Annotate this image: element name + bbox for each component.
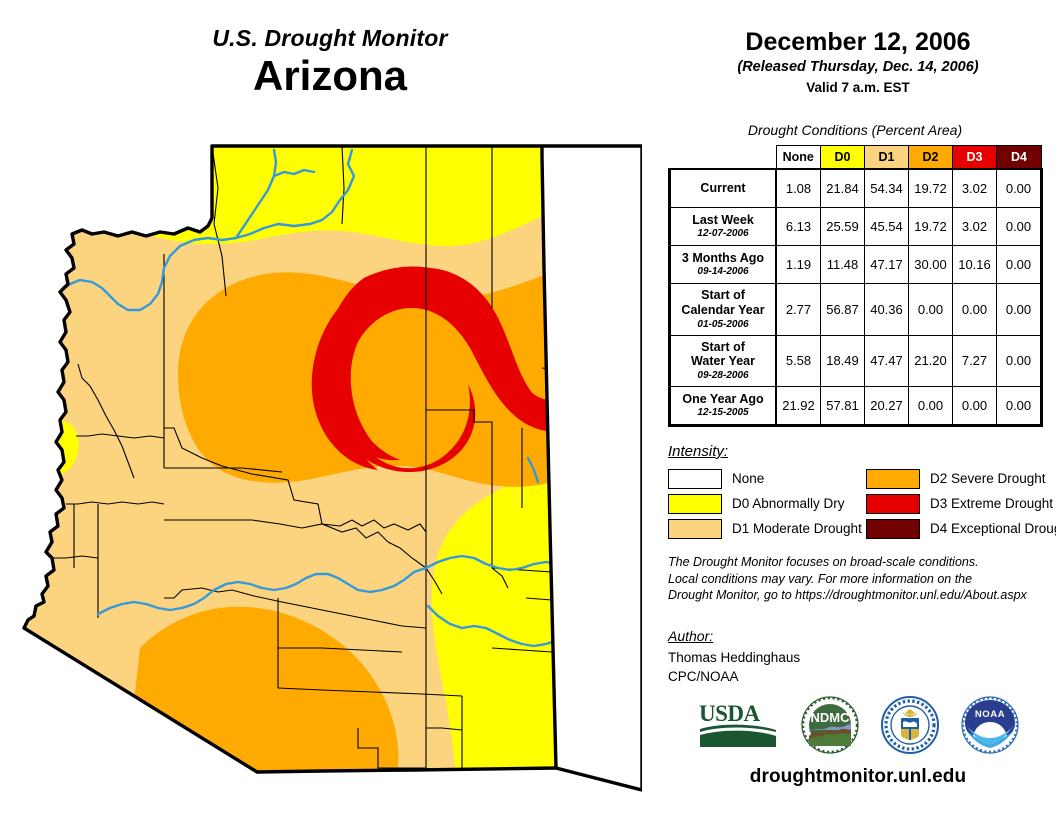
author-name: Thomas Heddinghaus [668, 648, 800, 667]
table-row: 3 Months Ago09-14-20061.1911.4847.1730.0… [670, 246, 1042, 284]
table-cell: 0.00 [997, 387, 1042, 426]
table-cell: 21.92 [776, 387, 821, 426]
state-outline-east [542, 146, 642, 790]
notes-line-1: The Drought Monitor focuses on broad-sca… [668, 554, 1054, 571]
table-cell: 3.02 [953, 208, 997, 246]
table-cell: 2.77 [776, 284, 821, 336]
table-cell: 40.36 [865, 284, 909, 336]
legend-swatch [866, 494, 920, 514]
legend-item: D2 Severe Drought [866, 466, 1056, 491]
table-cell: 3.02 [953, 169, 997, 208]
table-row: One Year Ago12-15-200521.9257.8120.270.0… [670, 387, 1042, 426]
intensity-heading: Intensity: [668, 443, 728, 460]
table-row: Current1.0821.8454.3419.723.020.00 [670, 169, 1042, 208]
row-label: One Year Ago12-15-2005 [670, 387, 777, 426]
svg-text:NDMC: NDMC [811, 710, 851, 725]
table-cell: 0.00 [997, 284, 1042, 336]
region-d0-west-sliver2 [30, 485, 51, 507]
row-label-text: Last Week [673, 213, 773, 228]
table-cell: 0.00 [997, 335, 1042, 387]
author-heading: Author: [668, 628, 713, 644]
row-label: 3 Months Ago09-14-2006 [670, 246, 777, 284]
table-caption: Drought Conditions (Percent Area) [660, 122, 1050, 138]
table-cell: 21.20 [909, 335, 953, 387]
right-panel: December 12, 2006 (Released Thursday, De… [660, 0, 1056, 816]
svg-text:NOAA: NOAA [975, 709, 1005, 720]
column-header-d3: D3 [953, 146, 997, 170]
table-header-row: NoneD0D1D2D3D4 [670, 146, 1042, 170]
legend-swatch [866, 469, 920, 489]
legend-label: D0 Abnormally Dry [732, 496, 845, 511]
author-block: Thomas Heddinghaus CPC/NOAA [668, 648, 800, 686]
row-label: Start ofWater Year09-28-2006 [670, 335, 777, 387]
released-line: (Released Thursday, Dec. 14, 2006) [660, 59, 1056, 76]
notes-line-2: Local conditions may vary. For more info… [668, 571, 1054, 588]
table-cell: 6.13 [776, 208, 821, 246]
legend-swatch [668, 519, 722, 539]
legend-label: D4 Exceptional Drought [930, 521, 1056, 536]
table-cell: 19.72 [909, 169, 953, 208]
table-cell: 0.00 [997, 246, 1042, 284]
map-panel: U.S. Drought Monitor Arizona [0, 0, 660, 816]
legend-item: D3 Extreme Drought [866, 491, 1056, 516]
row-label: Start ofCalendar Year01-05-2006 [670, 284, 777, 336]
legend-label: D3 Extreme Drought [930, 496, 1053, 511]
date-block: December 12, 2006 (Released Thursday, De… [660, 28, 1056, 95]
intensity-legend: NoneD2 Severe DroughtD0 Abnormally DryD3… [668, 466, 1056, 541]
table-cell: 0.00 [909, 387, 953, 426]
release-date: December 12, 2006 [660, 28, 1056, 56]
table-body: Current1.0821.8454.3419.723.020.00Last W… [670, 169, 1042, 426]
author-affiliation: CPC/NOAA [668, 667, 800, 686]
map-svg [22, 128, 642, 798]
row-label: Last Week12-07-2006 [670, 208, 777, 246]
column-header-d2: D2 [909, 146, 953, 170]
table-cell: 1.19 [776, 246, 821, 284]
table-row: Start ofWater Year09-28-20065.5818.4947.… [670, 335, 1042, 387]
table-cell: 21.84 [821, 169, 865, 208]
row-label-text: Current [673, 181, 773, 196]
table-cell: 45.54 [865, 208, 909, 246]
table-cell: 47.47 [865, 335, 909, 387]
svg-text:USDA: USDA [699, 701, 761, 726]
legend-swatch [668, 494, 722, 514]
table-cell: 1.08 [776, 169, 821, 208]
row-label-date: 09-14-2006 [673, 266, 773, 278]
arizona-drought-map[interactable] [22, 128, 642, 798]
table-cell: 18.49 [821, 335, 865, 387]
row-label-date: 01-05-2006 [673, 319, 773, 331]
table-cell: 0.00 [997, 208, 1042, 246]
row-label-date: 09-28-2006 [673, 370, 773, 382]
table-cell: 0.00 [953, 387, 997, 426]
legend-item: D0 Abnormally Dry [668, 491, 858, 516]
legend-item: None [668, 466, 858, 491]
table-cell: 0.00 [997, 169, 1042, 208]
row-label-date: 12-07-2006 [673, 228, 773, 240]
legend-item: D4 Exceptional Drought [866, 516, 1056, 541]
table-cell: 0.00 [909, 284, 953, 336]
table-cell: 54.34 [865, 169, 909, 208]
table-cell: 10.16 [953, 246, 997, 284]
column-header-d1: D1 [865, 146, 909, 170]
row-label-text: 3 Months Ago [673, 251, 773, 266]
row-label: Current [670, 169, 777, 208]
noaa-logo: NOAA [961, 696, 1019, 759]
valid-line: Valid 7 a.m. EST [660, 80, 1056, 96]
column-header-d0: D0 [821, 146, 865, 170]
legend-label: D2 Severe Drought [930, 471, 1046, 486]
table-cell: 47.17 [865, 246, 909, 284]
table-head: NoneD0D1D2D3D4 [670, 146, 1042, 170]
usda-logo: USDA [697, 699, 779, 756]
table-cell: 11.48 [821, 246, 865, 284]
table-cell: 25.59 [821, 208, 865, 246]
table-cell: 20.27 [865, 387, 909, 426]
usdc-seal-logo [881, 696, 939, 759]
legend-label: None [732, 471, 764, 486]
state-title: Arizona [0, 52, 660, 99]
table-cell: 5.58 [776, 335, 821, 387]
table-cell: 30.00 [909, 246, 953, 284]
column-header-d4: D4 [997, 146, 1042, 170]
map-title-block: U.S. Drought Monitor Arizona [0, 26, 660, 99]
table-cell: 57.81 [821, 387, 865, 426]
table-row: Last Week12-07-20066.1325.5945.5419.723.… [670, 208, 1042, 246]
table-cell: 56.87 [821, 284, 865, 336]
column-header-none: None [776, 146, 821, 170]
row-label-text: One Year Ago [673, 392, 773, 407]
legend-label: D1 Moderate Drought [732, 521, 862, 536]
row-label-date: 12-15-2005 [673, 407, 773, 419]
program-title: U.S. Drought Monitor [0, 26, 660, 50]
row-label-text: Start ofWater Year [673, 340, 773, 370]
site-url: droughtmonitor.unl.edu [660, 766, 1056, 788]
legend-swatch [866, 519, 920, 539]
table-corner-cell [670, 146, 777, 170]
legend-item: D1 Moderate Drought [668, 516, 858, 541]
notes-line-3: Drought Monitor, go to https://droughtmo… [668, 587, 1054, 604]
legend-swatch [668, 469, 722, 489]
table-row: Start ofCalendar Year01-05-20062.7756.87… [670, 284, 1042, 336]
table-cell: 7.27 [953, 335, 997, 387]
row-label-text: Start ofCalendar Year [673, 288, 773, 318]
ndmc-logo: NDMC [801, 696, 859, 759]
logo-row: USDA NDMC [660, 692, 1056, 762]
table-cell: 19.72 [909, 208, 953, 246]
table-cell: 0.00 [953, 284, 997, 336]
drought-conditions-table: NoneD0D1D2D3D4 Current1.0821.8454.3419.7… [668, 145, 1043, 427]
notes-block: The Drought Monitor focuses on broad-sca… [668, 554, 1054, 604]
